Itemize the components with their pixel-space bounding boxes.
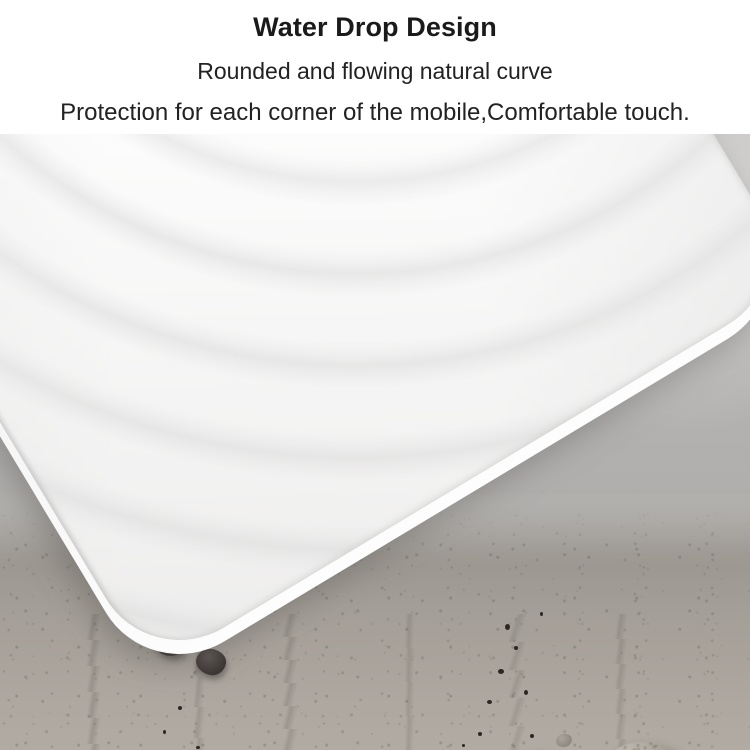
page-title: Water Drop Design [0,11,750,43]
debris-fleck [178,706,182,710]
product-photo [0,134,750,750]
case-chamfer-edge [0,134,750,672]
debris-fleck [163,730,166,734]
debris-fleck [505,624,510,630]
debris-fleck [524,690,528,695]
debris-fleck [540,612,543,616]
debris-fleck [487,700,492,704]
subtitle-line-2: Protection for each corner of the mobile… [0,98,750,127]
debris-fleck [530,734,534,738]
phone-case-body [0,134,750,672]
debris-fleck [196,746,200,749]
product-marketing-image: Water Drop Design Rounded and flowing na… [0,0,750,750]
subtitle-line-1: Rounded and flowing natural curve [0,57,750,85]
header-text-block: Water Drop Design Rounded and flowing na… [0,0,750,134]
debris-fleck [498,669,504,674]
debris-fleck [462,744,465,747]
debris-fleck [478,732,482,736]
phone-case-group [0,134,750,750]
debris-fleck [514,646,518,650]
